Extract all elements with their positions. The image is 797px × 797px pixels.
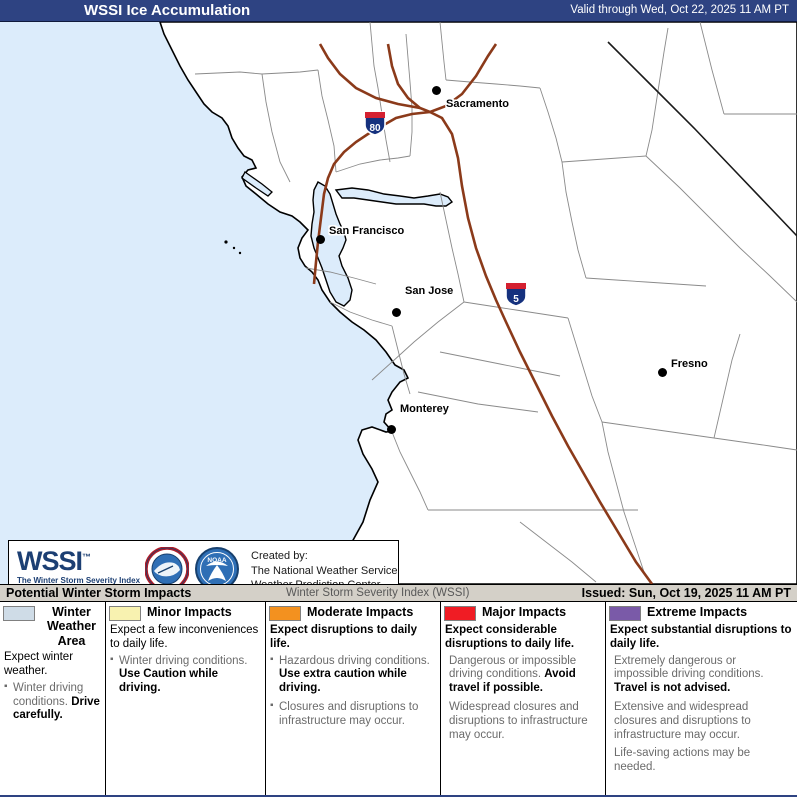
city-dot-sacramento [432,86,441,95]
bullet-bold: Travel is not advised. [614,682,730,694]
legend-bullet: Life-saving actions may be needed. [614,747,793,775]
title-bar: WSSI Ice Accumulation Valid through Wed,… [0,0,797,22]
interstate-shield-80: 80 [362,110,388,137]
bullet-normal: Closures and disruptions to infrastructu… [279,701,418,727]
city-label-san-jose: San Jose [405,285,453,297]
legend-header: Moderate Impacts [266,602,440,621]
legend-bullet: Winter driving conditions. Use Caution w… [119,655,261,696]
wssi-trademark: ™ [82,552,90,562]
legend-bullet: Extensive and widespread closures and di… [614,701,793,742]
wssi-logo: WSSI™ The Winter Storm Severity Index [17,548,139,585]
legend-body: Expect substantial disruptions to daily … [606,621,797,775]
farallon-island [233,247,235,249]
legend-column-major-impacts[interactable]: Major Impacts Expect considerable disrup… [441,602,606,795]
farallon-island [239,252,241,254]
credit-text-block: Created by: The National Weather Service… [251,549,398,584]
legend-swatch-moderate [269,606,301,621]
legend-swatch-minor [109,606,141,621]
city-dot-san-francisco [316,235,325,244]
legend-column-winter-weather-area[interactable]: Winter Weather Area Expect winter weathe… [0,602,106,795]
city-label-sacramento: Sacramento [446,98,509,110]
legend-header: Major Impacts [441,602,605,621]
legend-title-extreme: Extreme Impacts [647,605,747,619]
legend-swatch-winter [3,606,35,621]
bullet-normal: Hazardous driving conditions. [279,655,430,667]
city-dot-san-jose [392,308,401,317]
legend-swatch-extreme [609,606,641,621]
legend-header: Winter Weather Area [0,602,105,648]
noaa-seal-icon: NOAA [195,547,239,585]
impact-legend: Winter Weather Area Expect winter weathe… [0,602,797,797]
city-label-san-francisco: San Francisco [329,225,404,237]
issued-text: Issued: Sun, Oct 19, 2025 11 AM PT [582,586,791,600]
bullet-normal: Winter driving conditions. [119,655,247,667]
page-title: WSSI Ice Accumulation [84,2,250,19]
interstate-shield-5: 5 [503,281,529,308]
legend-body: Expect a few inconveniences to daily lif… [106,621,265,696]
city-dot-fresno [658,368,667,377]
legend-bullets-winter: Winter driving conditions. Drive careful… [4,682,101,723]
legend-bullet: Closures and disruptions to infrastructu… [279,701,436,729]
legend-title-winter: Winter Weather Area [41,605,102,648]
legend-lead-major: Expect considerable disruptions to daily… [445,624,601,652]
noaa-seal-label: NOAA [207,557,226,564]
map-canvas[interactable]: Sacramento San Francisco San Jose Monter… [0,22,797,584]
legend-body: Expect considerable disruptions to daily… [441,621,605,742]
legend-bullet: Widespread closures and disruptions to i… [449,701,601,742]
legend-body: Expect disruptions to daily life. Hazard… [266,621,440,729]
city-dot-monterey [387,425,396,434]
wssi-map-page: WSSI Ice Accumulation Valid through Wed,… [0,0,797,797]
bullet-normal: Extensive and widespread closures and di… [614,701,751,741]
bullet-normal: Life-saving actions may be needed. [614,747,750,773]
legend-bullet: Extremely dangerous or impossible drivin… [614,655,793,696]
city-label-monterey: Monterey [400,403,449,415]
legend-title-major: Major Impacts [482,605,566,619]
credit-line-2: The National Weather Service [251,564,398,579]
legend-bullet: Hazardous driving conditions. Use extra … [279,655,436,696]
legend-bullets-major: Dangerous or impossible driving conditio… [445,655,601,743]
legend-column-minor-impacts[interactable]: Minor Impacts Expect a few inconvenience… [106,602,266,795]
wssi-subtitle: Winter Storm Severity Index (WSSI) [286,587,469,599]
legend-bullet: Winter driving conditions. Drive careful… [13,682,101,723]
legend-bullets-minor: Winter driving conditions. Use Caution w… [110,655,261,696]
legend-body: Expect winter weather. Winter driving co… [0,648,105,723]
legend-lead-winter: Expect winter weather. [4,651,101,679]
wssi-wordmark: WSSI™ [17,548,139,575]
potential-impacts-title: Potential Winter Storm Impacts [6,586,191,600]
valid-through-text: Valid through Wed, Oct 22, 2025 11 AM PT [570,4,789,16]
legend-title-minor: Minor Impacts [147,605,232,619]
legend-lead-minor: Expect a few inconveniences to daily lif… [110,624,261,652]
map-geometry [0,22,797,584]
legend-column-extreme-impacts[interactable]: Extreme Impacts Expect substantial disru… [606,602,797,795]
farallon-island [224,240,227,243]
legend-header-bar: Potential Winter Storm Impacts Winter St… [0,584,797,602]
bullet-normal: Extremely dangerous or impossible drivin… [614,655,764,681]
legend-bullets-extreme: Extremely dangerous or impossible drivin… [610,655,793,775]
shield-number-80: 80 [369,123,381,134]
legend-title-moderate: Moderate Impacts [307,605,413,619]
legend-lead-moderate: Expect disruptions to daily life. [270,624,436,652]
legend-swatch-major [444,606,476,621]
credit-line-1: Created by: [251,549,398,564]
legend-bullets-moderate: Hazardous driving conditions. Use extra … [270,655,436,729]
legend-column-moderate-impacts[interactable]: Moderate Impacts Expect disruptions to d… [266,602,441,795]
nws-seal-icon [145,547,189,585]
legend-header: Extreme Impacts [606,602,797,621]
shield-number-5: 5 [513,294,519,305]
wssi-tagline: The Winter Storm Severity Index [17,576,139,585]
wssi-wordmark-text: WSSI [17,546,82,576]
credit-box: WSSI™ The Winter Storm Severity Index [8,540,399,584]
bullet-normal: Widespread closures and disruptions to i… [449,701,588,741]
city-label-fresno: Fresno [671,358,708,370]
bullet-bold: Use Caution while driving. [119,668,218,694]
legend-bullet: Dangerous or impossible driving conditio… [449,655,601,696]
legend-header: Minor Impacts [106,602,265,621]
bullet-bold: Use extra caution while driving. [279,668,407,694]
legend-lead-extreme: Expect substantial disruptions to daily … [610,624,793,652]
